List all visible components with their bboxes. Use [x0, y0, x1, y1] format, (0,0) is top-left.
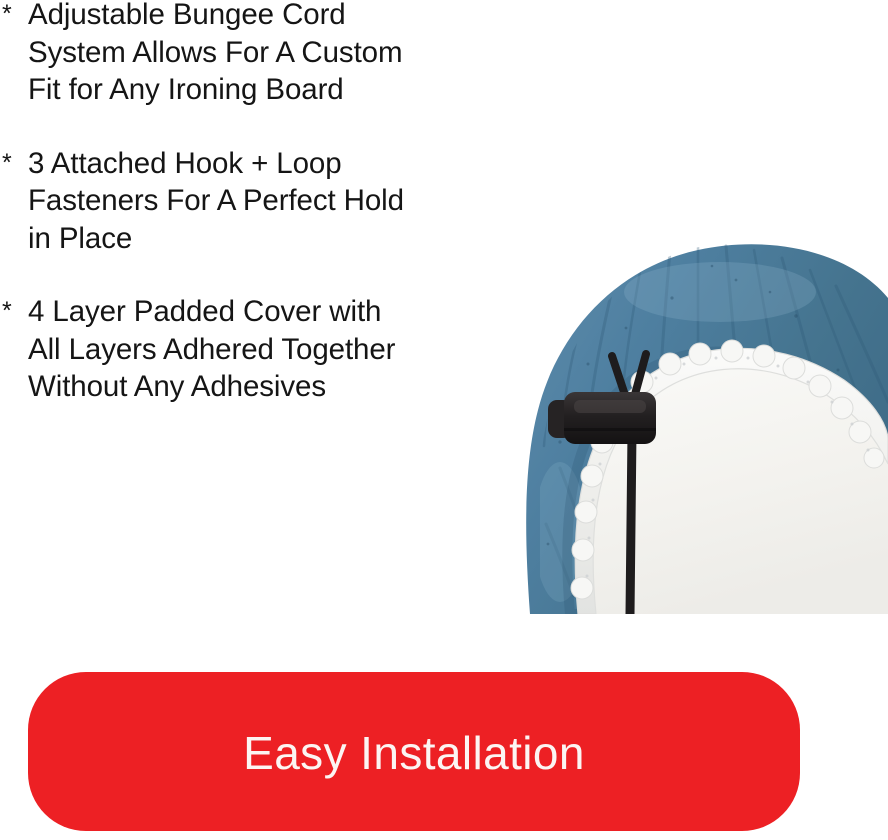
feature-bullet-item: * Adjustable Bungee Cord System Allows F… [0, 0, 470, 109]
feature-text: 4 Layer Padded Cover with All Layers Adh… [28, 293, 470, 406]
product-photo [420, 232, 888, 614]
ironing-board-cover-illustration [420, 232, 888, 614]
asterisk-bullet-icon: * [2, 0, 12, 33]
asterisk-bullet-icon: * [2, 293, 12, 330]
feature-text: 3 Attached Hook + Loop Fasteners For A P… [28, 145, 470, 258]
feature-list: * Adjustable Bungee Cord System Allows F… [0, 0, 470, 442]
promo-canvas: * Adjustable Bungee Cord System Allows F… [0, 0, 888, 840]
cta-button-label: Easy Installation [243, 730, 585, 776]
feature-bullet-item: * 3 Attached Hook + Loop Fasteners For A… [0, 145, 470, 258]
feature-text: Adjustable Bungee Cord System Allows For… [28, 0, 470, 109]
asterisk-bullet-icon: * [2, 145, 12, 182]
easy-installation-button[interactable]: Easy Installation [28, 672, 800, 831]
feature-bullet-item: * 4 Layer Padded Cover with All Layers A… [0, 293, 470, 406]
